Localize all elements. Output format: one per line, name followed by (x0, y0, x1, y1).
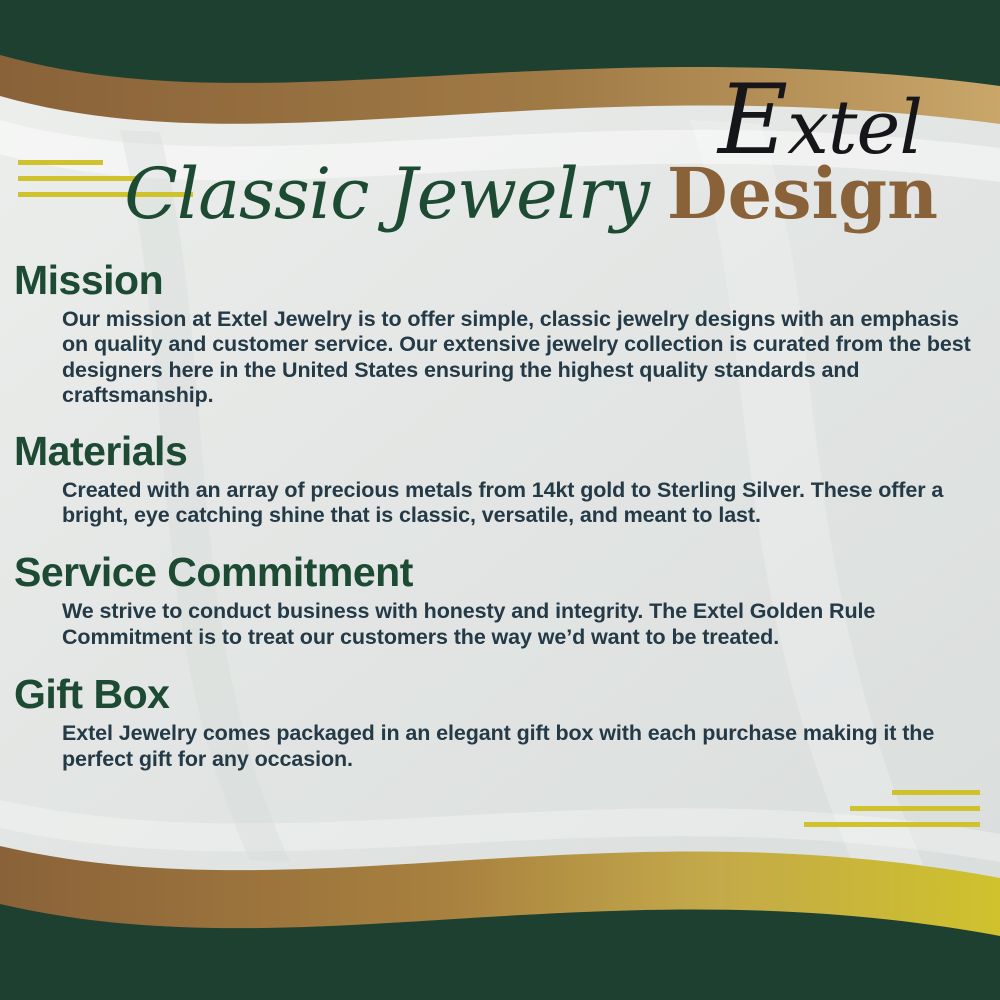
section-mission: Mission Our mission at Extel Jewelry is … (14, 258, 986, 409)
poster-canvas: Extel Classic JewelryDesign Mission Our … (0, 0, 1000, 1000)
section-gift-box: Gift Box Extel Jewelry comes packaged in… (14, 672, 986, 772)
section-body: We strive to conduct business with hones… (62, 599, 986, 650)
section-body: Extel Jewelry comes packaged in an elega… (62, 721, 986, 772)
decorative-rule (804, 822, 980, 827)
section-heading: Mission (14, 258, 986, 303)
decorative-rule (892, 790, 980, 795)
page-title: Classic JewelryDesign (0, 152, 1000, 252)
section-heading: Service Commitment (14, 550, 986, 595)
section-body: Our mission at Extel Jewelry is to offer… (62, 307, 986, 408)
sections-list: Mission Our mission at Extel Jewelry is … (14, 258, 986, 782)
section-heading: Materials (14, 429, 986, 474)
section-materials: Materials Created with an array of preci… (14, 429, 986, 529)
decorative-rule (850, 806, 980, 811)
section-body: Created with an array of precious metals… (62, 478, 986, 529)
decorative-lines-bottom-right (780, 790, 980, 838)
page-title-main: Classic Jewelry (124, 153, 649, 235)
section-heading: Gift Box (14, 672, 986, 717)
section-service-commitment: Service Commitment We strive to conduct … (14, 550, 986, 650)
page-title-sub: Design (667, 152, 938, 235)
